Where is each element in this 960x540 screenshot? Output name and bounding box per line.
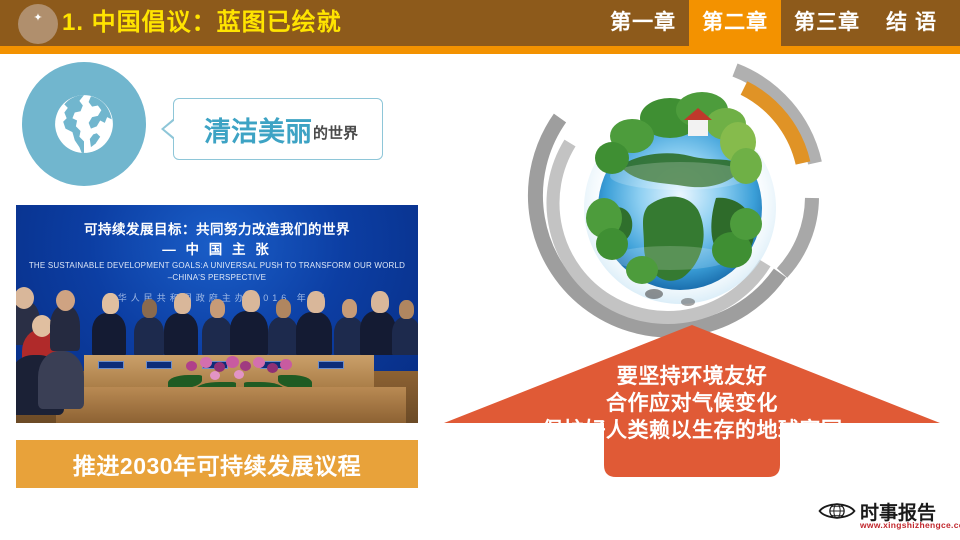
brand-logo: 时事报告 www.xingshizhengce.com — [818, 498, 952, 534]
tab-chapter-1[interactable]: 第一章 — [597, 0, 689, 46]
photo-headline-1: 可持续发展目标：共同努力改造我们的世界 — [16, 218, 418, 238]
conference-photo: 可持续发展目标：共同努力改造我们的世界 — 中 国 主 张 THE SUSTAI… — [16, 205, 418, 423]
arrow-banner: 要坚持环境友好 合作应对气候变化 保护好人类赖以生存的地球家园 — [440, 325, 944, 477]
right-lower-gray-arc — [782, 198, 812, 273]
globe-icon — [47, 87, 121, 161]
logo-url: www.xingshizhengce.com — [860, 520, 960, 530]
photo-subline-2: –CHINA'S PERSPECTIVE — [16, 273, 418, 282]
earth-arcs-graphic — [520, 58, 850, 366]
arrow-shape — [440, 325, 944, 477]
speech-bubble: 清洁美丽 的世界 — [173, 98, 383, 160]
photo-table-front — [56, 387, 406, 423]
bubble-text: 清洁美丽 的世界 — [174, 99, 382, 159]
header-underline — [0, 46, 960, 54]
photo-subline-1: THE SUSTAINABLE DEVELOPMENT GOALS:A UNIV… — [16, 261, 418, 270]
tab-chapter-3[interactable]: 第三章 — [781, 0, 873, 46]
chapter-tabs: 第一章 第二章 第三章 结 语 — [597, 0, 950, 46]
header-badge: ✦ — [18, 4, 58, 44]
photo-headline-2: — 中 国 主 张 — [16, 238, 418, 258]
bubble-sub-text: 的世界 — [313, 122, 358, 143]
bubble-main-text: 清洁美丽 — [204, 110, 312, 149]
eye-globe-icon — [818, 499, 856, 523]
tab-chapter-2[interactable]: 第二章 — [689, 0, 781, 46]
photo-caption-bar: 推进2030年可持续发展议程 — [16, 440, 418, 488]
star-icon: ✦ — [33, 13, 42, 24]
page-title: 1. 中国倡议：蓝图已绘就 — [62, 0, 342, 46]
photo-caption-text: 推进2030年可持续发展议程 — [73, 447, 361, 481]
globe-badge — [22, 62, 146, 186]
tab-conclusion[interactable]: 结 语 — [873, 0, 950, 46]
